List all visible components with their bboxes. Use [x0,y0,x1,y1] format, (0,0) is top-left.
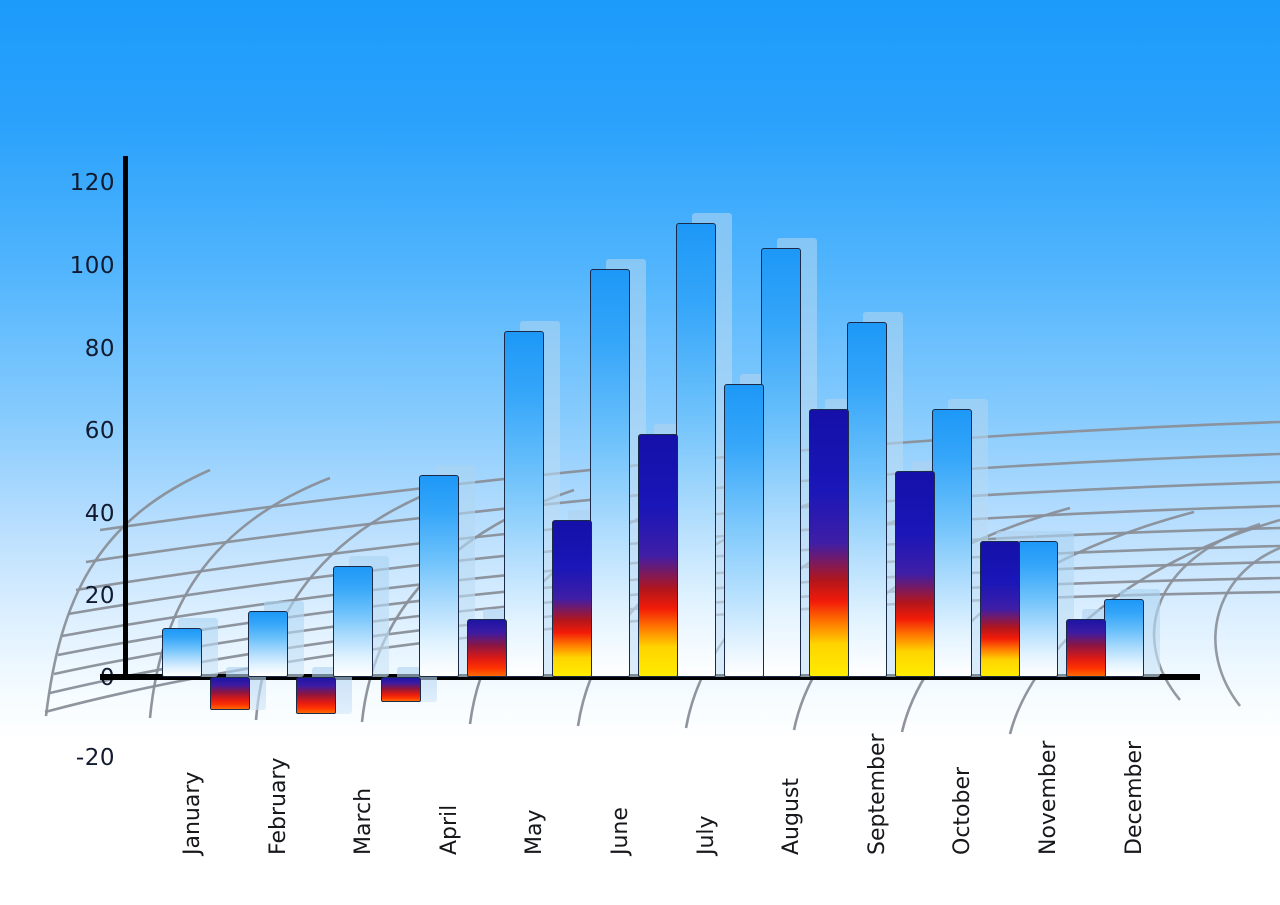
bar-series2-march[interactable] [381,677,421,702]
x-axis-label-june: June [608,807,633,855]
bar-series1-july[interactable] [676,223,716,677]
x-axis-label-april: April [437,805,462,855]
bar-series1-october[interactable] [932,409,972,677]
bar-series2-april[interactable] [467,619,507,677]
bar-series1-march[interactable] [333,566,373,677]
y-tick-neg20: -20 [57,745,115,771]
bar-series1-june[interactable] [590,269,630,677]
y-tick-20: 20 [57,583,115,609]
bar-series1-february[interactable] [248,611,288,677]
plot-area: 120 100 80 60 40 20 0 -20 JanuaryFebruar… [0,0,1280,905]
x-axis-label-september: September [865,733,890,855]
bar-series2-october[interactable] [980,541,1020,677]
y-tick-40: 40 [57,501,115,527]
bar-series1-november[interactable] [1018,541,1058,677]
x-axis-label-november: November [1036,741,1061,855]
y-axis-line [123,156,128,680]
x-axis-label-december: December [1122,741,1147,855]
x-axis-label-february: February [266,758,291,856]
bar-series2-july[interactable] [724,384,764,677]
x-axis-label-january: January [180,772,205,855]
bar-series2-november[interactable] [1066,619,1106,677]
x-axis-label-august: August [779,778,804,855]
bar-series2-september[interactable] [895,471,935,677]
bar-series1-may[interactable] [504,331,544,678]
bar-series2-may[interactable] [552,520,592,677]
x-axis-label-july: July [694,815,719,855]
bar-series2-august[interactable] [809,409,849,677]
bar-series1-april[interactable] [419,475,459,677]
bar-series2-june[interactable] [638,434,678,677]
y-tick-120: 120 [57,170,115,196]
bar-series2-february[interactable] [296,677,336,714]
bar-series1-january[interactable] [162,628,202,678]
bar-series1-december[interactable] [1104,599,1144,677]
y-tick-100: 100 [57,253,115,279]
y-axis-tick-labels: 120 100 80 60 40 20 0 -20 [55,0,115,905]
y-tick-60: 60 [57,418,115,444]
bar-series1-august[interactable] [761,248,801,677]
bar-series2-january[interactable] [210,677,250,710]
bar-series1-september[interactable] [847,322,887,677]
y-tick-80: 80 [57,336,115,362]
x-axis-label-october: October [950,767,975,855]
x-axis-label-march: March [351,788,376,855]
x-axis-label-may: May [522,810,547,855]
chart-canvas: 120 100 80 60 40 20 0 -20 JanuaryFebruar… [0,0,1280,905]
